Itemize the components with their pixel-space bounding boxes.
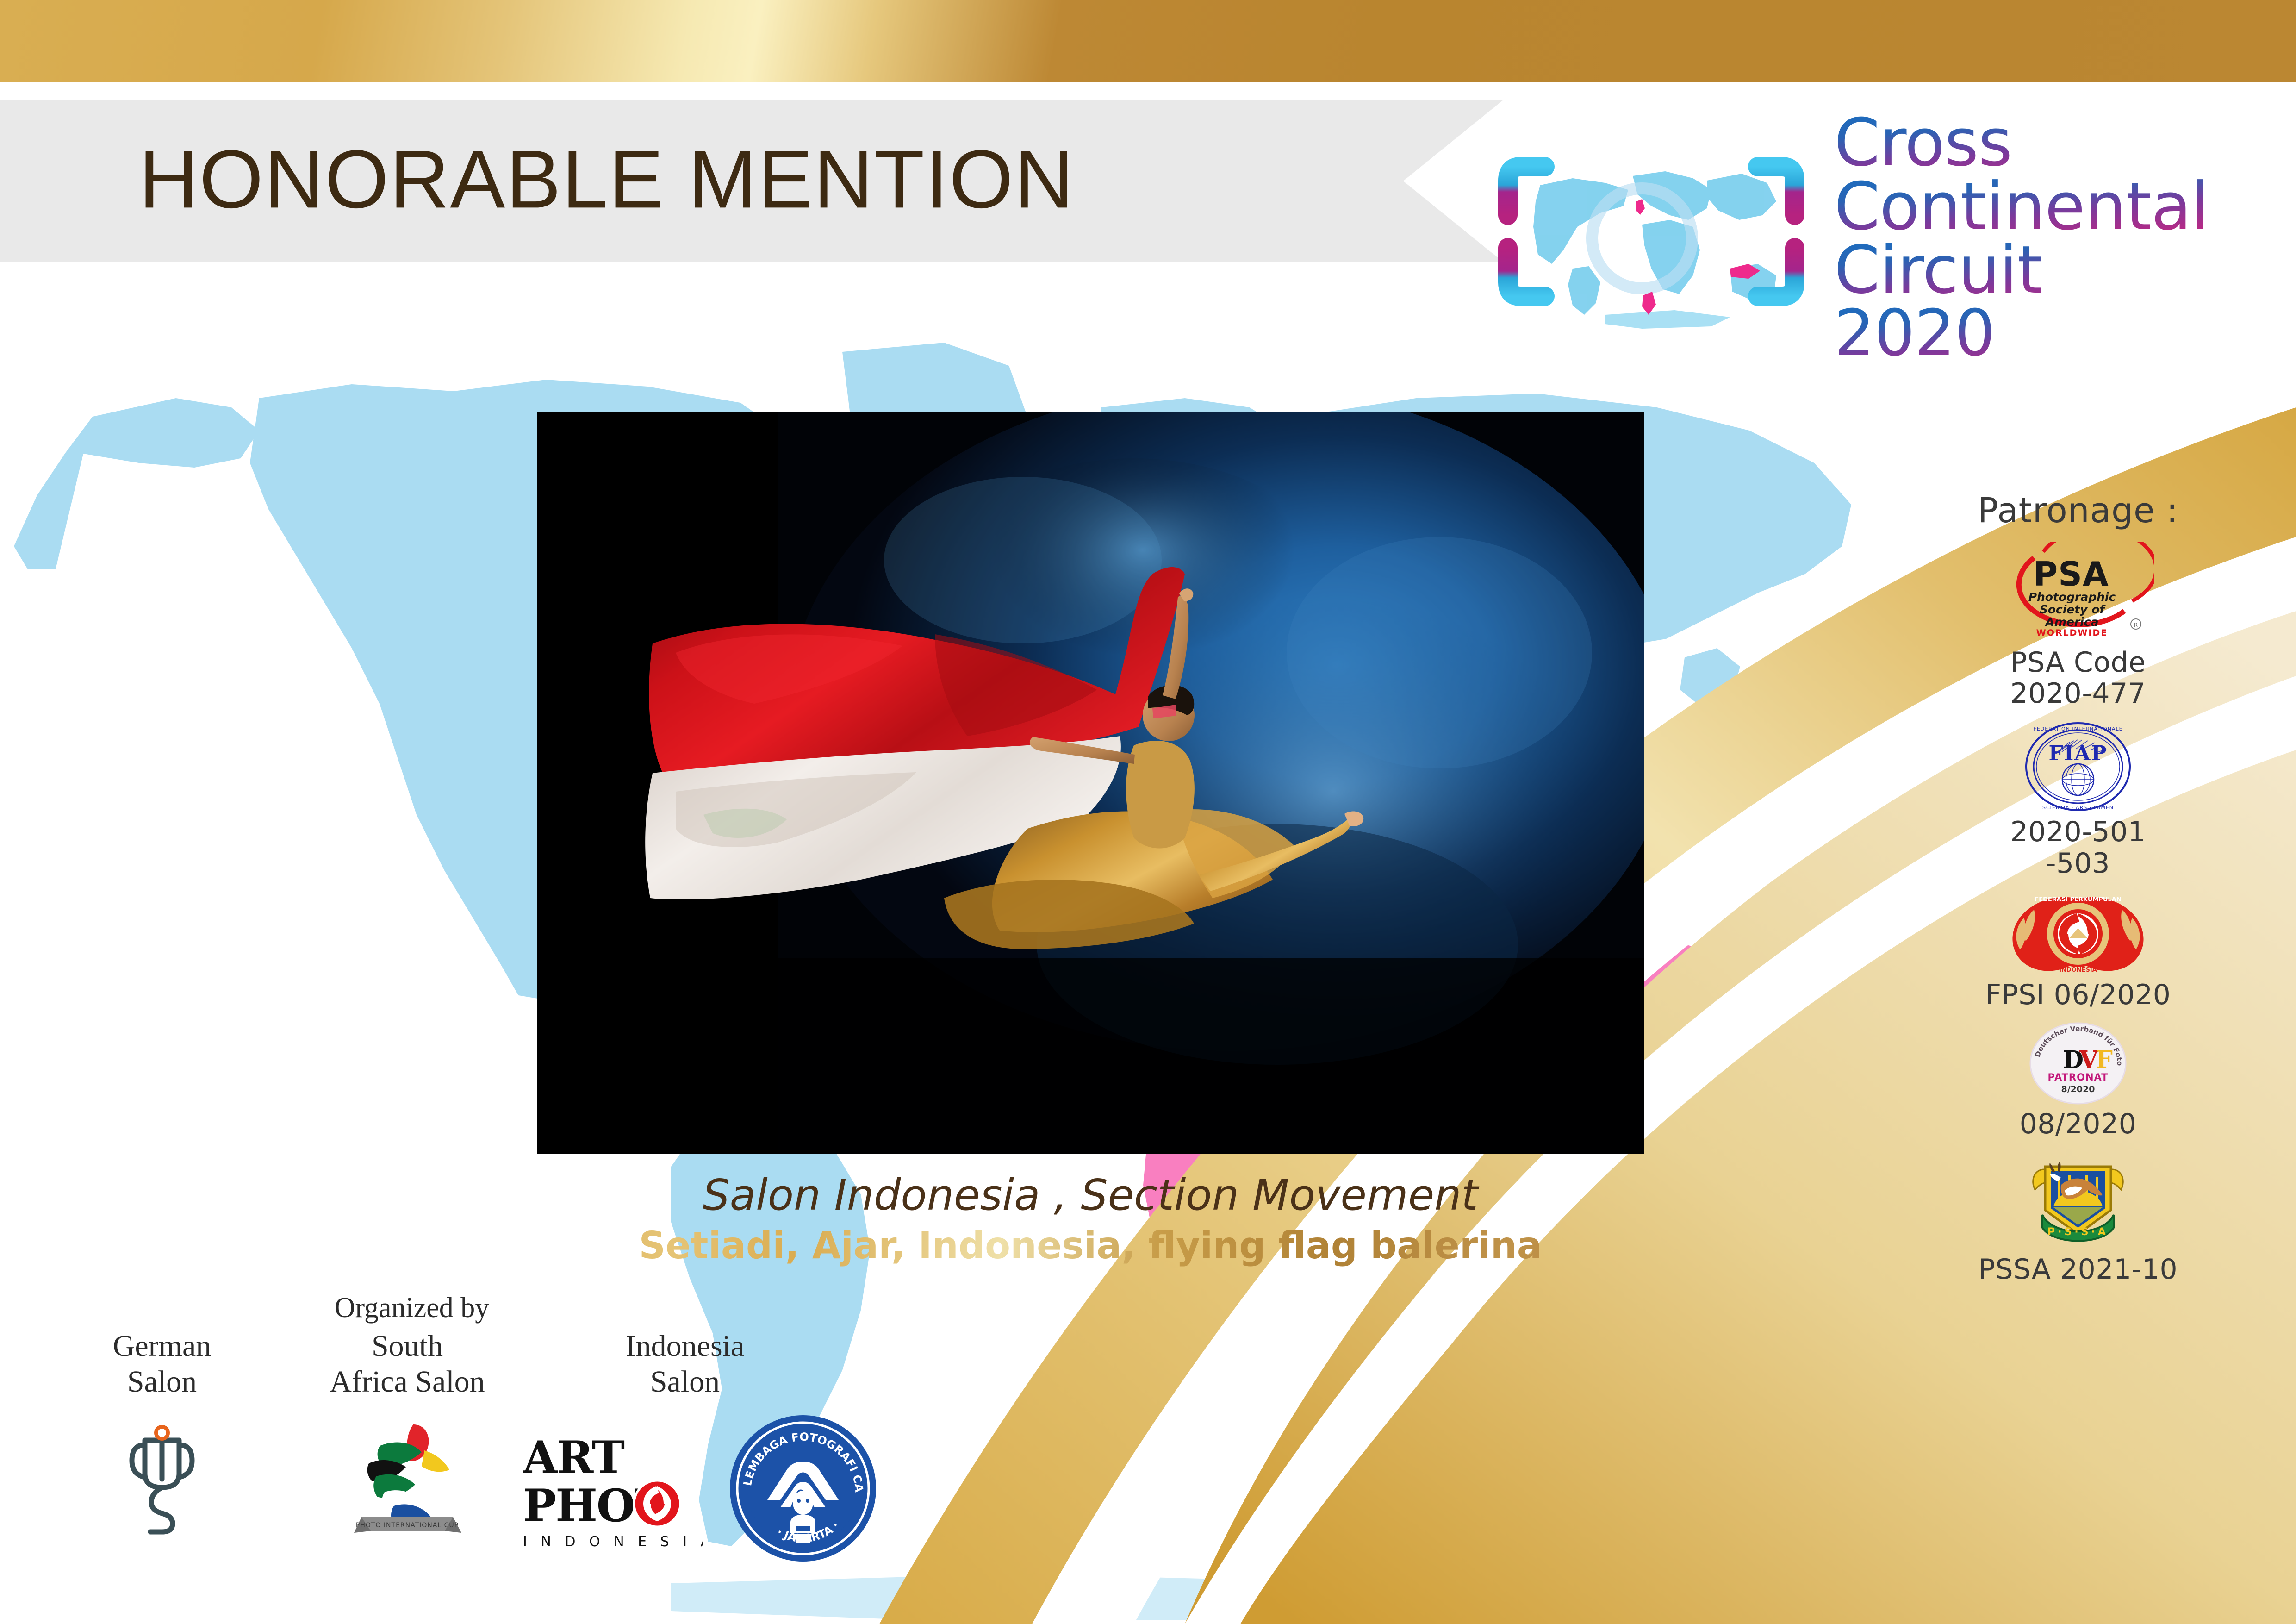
cross-continental-circuit-logo: Cross Continental Circuit 2020: [1489, 116, 2211, 352]
organizer-german-salon: GermanSalon: [65, 1329, 259, 1538]
svg-text:R: R: [2134, 622, 2138, 629]
organizer-name-south-africa: SouthAfrica Salon: [287, 1329, 528, 1399]
caption-salon-section: Salon Indonesia , Section Movement: [537, 1171, 1644, 1219]
artphoto-indonesia-logo-icon: ART PHOT I N D O N E S I A: [518, 1430, 703, 1558]
svg-text:America: America: [2045, 615, 2099, 629]
svg-text:· INDONESIA ·: · INDONESIA ·: [2055, 967, 2102, 974]
logo-line-3: Circuit: [1834, 238, 2214, 302]
patronage-item-pssa: P·S·S·A PSSA 2021-10: [1925, 1151, 2231, 1285]
fpsi-code-label: FPSI 06/2020: [1925, 980, 2231, 1011]
world-map-brackets-icon: [1489, 116, 1813, 347]
award-banner: HONORABLE MENTION: [0, 100, 1527, 262]
svg-text:ART: ART: [523, 1431, 625, 1484]
fiap-code-label: 2020-501-503: [1925, 817, 2231, 879]
patronage-item-fiap: FIAP FEDERATION INTERNATIONALE SCIENTIA …: [1925, 720, 2231, 879]
svg-text:PSA: PSA: [2033, 555, 2109, 593]
organizer-name-german: GermanSalon: [65, 1329, 259, 1399]
patronage-item-fpsi: FEDERASI PERKUMPULAN · INDONESIA · FPSI …: [1925, 890, 2231, 1011]
logo-line-1: Cross: [1834, 111, 2214, 175]
dvf-logo-icon: Deutscher Verband für Fotografie e.V. D …: [1925, 1022, 2231, 1105]
svg-text:FEDERATION INTERNATIONALE: FEDERATION INTERNATIONALE: [2033, 726, 2122, 732]
svg-text:FIAP: FIAP: [2048, 742, 2107, 765]
logo-line-2: Continental: [1834, 175, 2214, 239]
svg-text:F: F: [2096, 1046, 2113, 1074]
organizer-name-indonesia: IndonesiaSalon: [569, 1329, 801, 1399]
svg-text:WORLDWIDE: WORLDWIDE: [2036, 628, 2108, 638]
organized-by-heading: Organized by: [296, 1292, 528, 1324]
pssa-code-label: PSSA 2021-10: [1925, 1254, 2231, 1285]
svg-text:SCIENTIA · ARS · LUMEN: SCIENTIA · ARS · LUMEN: [2042, 805, 2113, 811]
svg-text:8/2020: 8/2020: [2061, 1084, 2095, 1094]
psa-logo-icon: PSA Photographic Society of America WORL…: [1925, 542, 2231, 643]
svg-text:Society of: Society of: [2040, 603, 2106, 616]
certificate-page: HONORABLE MENTION: [0, 0, 2296, 1624]
svg-text:PHOTO INTERNATIONAL CUP: PHOTO INTERNATIONAL CUP: [356, 1522, 459, 1529]
patronage-column: Patronage : PSA Photographic Society of …: [1925, 491, 2231, 1285]
svg-text:Photographic: Photographic: [2028, 590, 2116, 604]
pssa-logo-icon: P·S·S·A: [1925, 1151, 2231, 1250]
patronage-item-psa: PSA Photographic Society of America WORL…: [1925, 542, 2231, 709]
fpsi-logo-icon: FEDERASI PERKUMPULAN · INDONESIA ·: [1925, 890, 2231, 976]
logo-line-4: 2020: [1834, 302, 2214, 364]
svg-text:I N D O N E S I A: I N D O N E S I A: [523, 1534, 703, 1550]
caption-author: Setiadi, Ajar, Indonesia, flying flag ba…: [537, 1224, 1644, 1268]
svg-text:FEDERASI PERKUMPULAN: FEDERASI PERKUMPULAN: [2035, 896, 2121, 903]
svg-text:PATRONAT: PATRONAT: [2048, 1072, 2109, 1083]
svg-text:P·S·S·A: P·S·S·A: [2047, 1226, 2109, 1238]
top-gold-strip: [0, 0, 2296, 82]
fiap-logo-icon: FIAP FEDERATION INTERNATIONALE SCIENTIA …: [1925, 720, 2231, 813]
organizer-south-africa-salon: SouthAfrica Salon PHOTO INTERNATIONAL CU…: [287, 1329, 528, 1543]
photo-caption: Salon Indonesia , Section Movement Setia…: [537, 1171, 1644, 1268]
patronage-heading: Patronage :: [1925, 491, 2231, 531]
logo-wordmark: Cross Continental Circuit 2020: [1834, 111, 2214, 364]
patronage-item-dvf: Deutscher Verband für Fotografie e.V. D …: [1925, 1022, 2231, 1140]
award-title: HONORABLE MENTION: [139, 131, 1075, 226]
german-trophy-logo-icon: [65, 1418, 259, 1538]
organizer-indonesia-salon: IndonesiaSalon: [569, 1329, 801, 1399]
lembaga-fotografi-candra-naya-logo-icon: LEMBAGA FOTOGRAFI CANDRA NAYA · JAKARTA …: [727, 1412, 879, 1567]
award-photograph: [537, 412, 1644, 1154]
dvf-code-label: 08/2020: [1925, 1109, 2231, 1140]
south-africa-flag-crest-logo-icon: PHOTO INTERNATIONAL CUP: [287, 1418, 528, 1543]
psa-code-label: PSA Code2020-477: [1925, 647, 2231, 709]
